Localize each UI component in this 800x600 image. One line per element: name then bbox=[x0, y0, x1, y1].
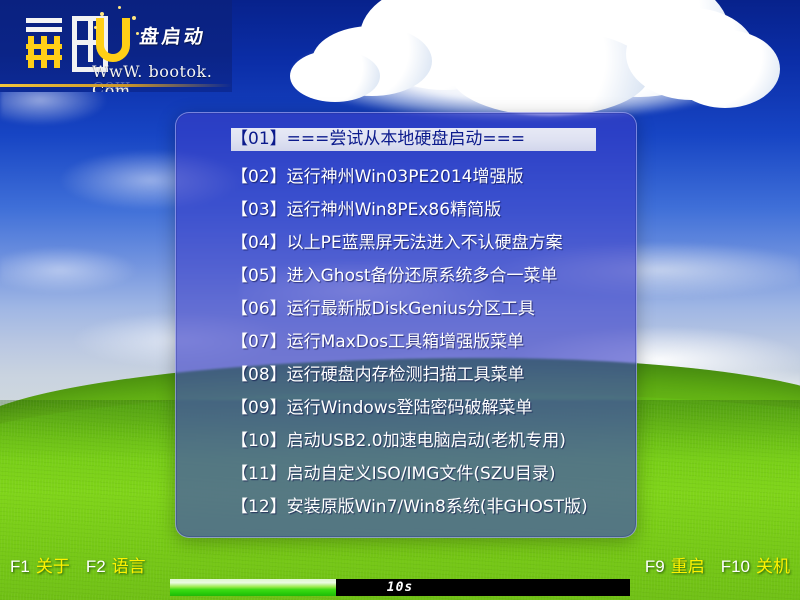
menu-item-label: 【05】进入Ghost备份还原系统多合一菜单 bbox=[231, 266, 558, 286]
boot-menu-screen: 盘启动 WwW. bootok. Com WwW. bootok. Com 【0… bbox=[0, 0, 800, 600]
sparkle-icon bbox=[136, 32, 139, 35]
menu-item-label: 【08】运行硬盘内存检测扫描工具菜单 bbox=[231, 365, 525, 385]
countdown-progress-bar: 10s bbox=[170, 579, 630, 596]
shen-glyph-icon bbox=[24, 14, 68, 72]
menu-item-label: 【10】启动USB2.0加速电脑启动(老机专用) bbox=[231, 431, 566, 451]
hints-right: F9重启F10关机 bbox=[645, 552, 790, 577]
menu-item-label: 【04】以上PE蓝黑屏无法进入不认硬盘方案 bbox=[231, 233, 563, 253]
sparkle-icon bbox=[118, 6, 121, 9]
menu-item-03[interactable]: 【03】运行神州Win8PEx86精简版 bbox=[176, 194, 636, 227]
menu-item-label: 【01】===尝试从本地硬盘启动=== bbox=[231, 128, 596, 151]
brand-url-reflection: WwW. bootok. Com bbox=[92, 78, 232, 92]
brand-logo: 盘启动 WwW. bootok. Com WwW. bootok. Com bbox=[0, 0, 232, 92]
boot-menu-panel: 【01】===尝试从本地硬盘启动===【02】运行神州Win03PE2014增强… bbox=[175, 112, 637, 538]
hint-action-f9[interactable]: 重启 bbox=[671, 557, 705, 576]
sparkle-icon bbox=[100, 12, 104, 16]
menu-item-label: 【07】运行MaxDos工具箱增强版菜单 bbox=[231, 332, 524, 352]
menu-item-04[interactable]: 【04】以上PE蓝黑屏无法进入不认硬盘方案 bbox=[176, 227, 636, 260]
brand-calligraphy: 盘启动 bbox=[138, 22, 208, 49]
menu-item-label: 【06】运行最新版DiskGenius分区工具 bbox=[231, 299, 535, 319]
menu-item-05[interactable]: 【05】进入Ghost备份还原系统多合一菜单 bbox=[176, 260, 636, 293]
sparkle-icon bbox=[132, 16, 136, 20]
sparkle-icon bbox=[94, 26, 97, 29]
countdown-label: 10s bbox=[170, 579, 630, 596]
hint-key-f10[interactable]: F10 bbox=[721, 557, 750, 576]
menu-item-11[interactable]: 【11】启动自定义ISO/IMG文件(SZU目录) bbox=[176, 458, 636, 491]
hint-key-f9[interactable]: F9 bbox=[645, 557, 665, 576]
menu-row[interactable]: 【01】===尝试从本地硬盘启动=== bbox=[176, 128, 636, 161]
menu-item-06[interactable]: 【06】运行最新版DiskGenius分区工具 bbox=[176, 293, 636, 326]
hints-left: F1关于F2语言 bbox=[10, 552, 146, 577]
hint-action-f10[interactable]: 关机 bbox=[756, 557, 790, 576]
hint-action-f1[interactable]: 关于 bbox=[36, 557, 70, 576]
cumulus-cloud bbox=[300, 0, 740, 120]
hint-key-f1[interactable]: F1 bbox=[10, 557, 30, 576]
menu-item-01[interactable]: 【01】===尝试从本地硬盘启动=== bbox=[231, 128, 596, 151]
menu-item-08[interactable]: 【08】运行硬盘内存检测扫描工具菜单 bbox=[176, 359, 636, 392]
menu-item-label: 【11】启动自定义ISO/IMG文件(SZU目录) bbox=[231, 464, 556, 484]
hint-action-f2[interactable]: 语言 bbox=[112, 557, 146, 576]
menu-item-12[interactable]: 【12】安装原版Win7/Win8系统(非GHOST版) bbox=[176, 491, 636, 524]
menu-item-02[interactable]: 【02】运行神州Win03PE2014增强版 bbox=[176, 161, 636, 194]
menu-item-09[interactable]: 【09】运行Windows登陆密码破解菜单 bbox=[176, 392, 636, 425]
menu-item-10[interactable]: 【10】启动USB2.0加速电脑启动(老机专用) bbox=[176, 425, 636, 458]
usb-u-icon bbox=[96, 18, 130, 62]
boot-menu-list: 【01】===尝试从本地硬盘启动===【02】运行神州Win03PE2014增强… bbox=[176, 128, 636, 524]
hint-key-f2[interactable]: F2 bbox=[86, 557, 106, 576]
menu-item-label: 【03】运行神州Win8PEx86精简版 bbox=[231, 200, 501, 220]
menu-item-07[interactable]: 【07】运行MaxDos工具箱增强版菜单 bbox=[176, 326, 636, 359]
menu-item-label: 【09】运行Windows登陆密码破解菜单 bbox=[231, 398, 533, 418]
menu-item-label: 【12】安装原版Win7/Win8系统(非GHOST版) bbox=[231, 497, 588, 517]
menu-item-label: 【02】运行神州Win03PE2014增强版 bbox=[231, 167, 523, 187]
